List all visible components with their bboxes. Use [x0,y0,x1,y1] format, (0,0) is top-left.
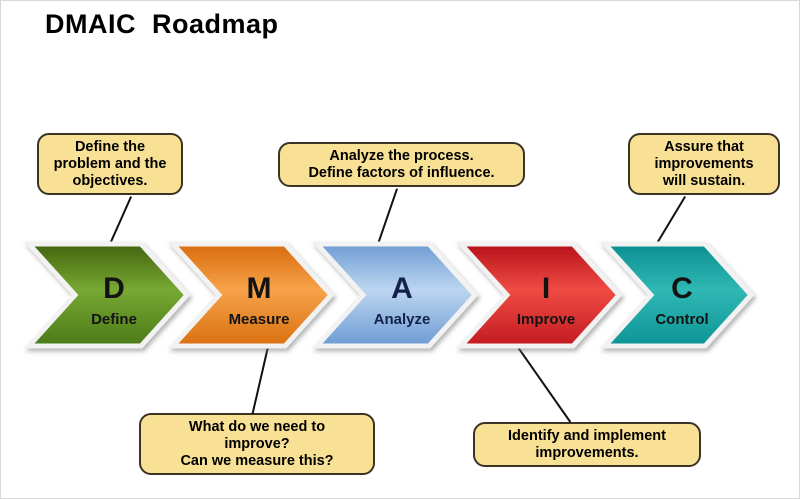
chevron-control-shape[interactable] [605,244,751,346]
chevron-analyze-shape[interactable] [317,244,475,346]
callout-control: Assure that improvements will sustain. [628,133,780,195]
chevron-analyze-letter: A [391,272,413,305]
dmaic-roadmap-diagram: DMAIC Roadmap Define the problem and the… [0,0,800,499]
chevron-define-letter: D [103,272,125,305]
chevron-improve[interactable]: I Improve [461,244,619,346]
callout-improve: Identify and implement improvements. [473,422,701,467]
connector-improve [517,347,571,423]
callout-define: Define the problem and the objectives. [37,133,183,195]
chevron-analyze-label: Analyze [374,311,431,328]
chevron-measure-letter: M [247,272,272,305]
chevron-measure[interactable]: M Measure [173,244,331,346]
connector-control [653,196,686,248]
callout-measure: What do we need to improve? Can we measu… [139,413,375,475]
chevron-improve-letter: I [542,272,550,305]
connector-measure [252,347,269,415]
chevron-improve-shape[interactable] [461,244,619,346]
chevron-measure-label: Measure [229,311,290,328]
chevron-control-letter: C [671,272,693,305]
callout-analyze: Analyze the process. Define factors of i… [278,142,525,187]
chevron-define-label: Define [91,311,137,328]
chevron-analyze[interactable]: A Analyze [317,244,475,346]
connector-define [107,196,132,249]
chevron-define-shape[interactable] [29,244,187,346]
chevron-control-label: Control [655,311,708,328]
chevron-control[interactable]: C Control [605,244,751,346]
chevron-define[interactable]: D Define [29,244,187,346]
chevron-improve-label: Improve [517,311,575,328]
page-title: DMAIC Roadmap [45,9,279,40]
connector-analyze [377,188,398,244]
chevron-measure-shape[interactable] [173,244,331,346]
